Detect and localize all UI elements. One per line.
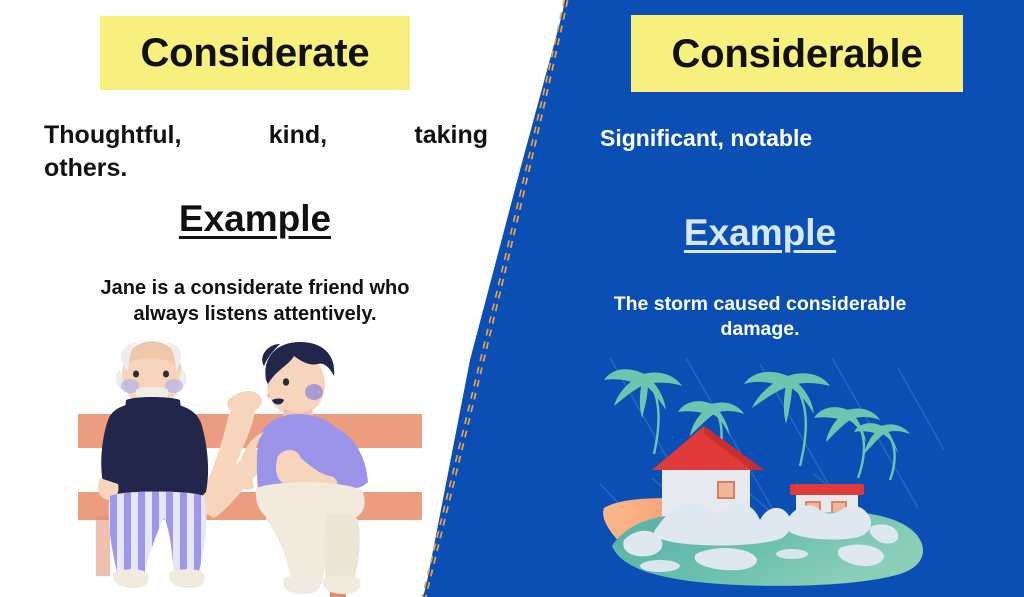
left-example-line2: always listens attentively. <box>30 301 480 327</box>
left-example-line1: Jane is a considerate friend who <box>30 275 480 301</box>
left-definition-line2: others. <box>44 152 488 185</box>
right-example-heading: Example <box>580 214 940 251</box>
two-men-talking-on-bench-illustration <box>78 340 422 597</box>
left-example-sentence: Jane is a considerate friend who always … <box>30 275 480 327</box>
right-example-line2: damage. <box>570 317 950 342</box>
left-title-highlight: Considerate <box>100 16 410 90</box>
left-definition: Thoughtful, kind, taking others. <box>44 119 488 185</box>
comparison-infographic: Considerate Thoughtful, kind, taking oth… <box>0 0 1024 597</box>
storm-flood-houses-illustration <box>600 358 944 588</box>
right-definition: Significant, notable <box>600 123 960 153</box>
right-title-highlight: Considerable <box>631 15 963 92</box>
right-example-sentence: The storm caused considerable damage. <box>570 292 950 343</box>
left-example-heading: Example <box>0 200 510 237</box>
right-title-text: Considerable <box>672 34 923 74</box>
left-definition-line1: Thoughtful, kind, taking <box>44 119 488 152</box>
right-example-line1: The storm caused considerable <box>570 292 950 317</box>
left-title-text: Considerate <box>141 33 370 73</box>
